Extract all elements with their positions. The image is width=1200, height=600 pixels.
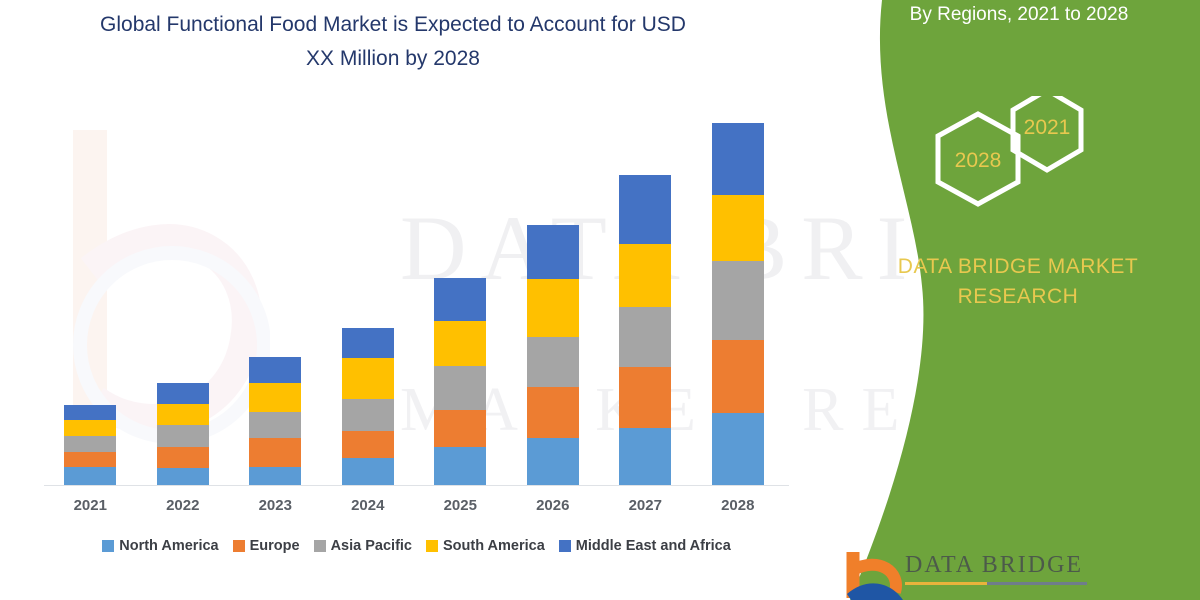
stacked-bar-chart: [44, 110, 784, 486]
legend-swatch-icon: [314, 540, 326, 552]
bar-segment[interactable]: [527, 387, 579, 438]
page-title: Global Functional Food Market is Expecte…: [48, 8, 738, 76]
logo-b-icon: [845, 548, 905, 600]
bar-segment[interactable]: [342, 431, 394, 458]
bar-segment[interactable]: [712, 413, 764, 486]
x-axis-label-2023: 2023: [230, 497, 320, 514]
x-axis-line: [44, 485, 789, 486]
legend-label: South America: [443, 538, 545, 554]
bar-segment[interactable]: [434, 278, 486, 321]
bar-segment[interactable]: [249, 383, 301, 412]
bar-group-2028[interactable]: [712, 123, 764, 486]
bar-segment[interactable]: [527, 438, 579, 486]
bar-group-2026[interactable]: [527, 225, 579, 486]
bar-segment[interactable]: [64, 452, 116, 468]
bar-segment[interactable]: [157, 468, 209, 486]
bar-segment[interactable]: [157, 383, 209, 404]
infographic-canvas: DATA BRIDGE MARKET RESEARCH Global Funct…: [0, 0, 1200, 600]
bar-segment[interactable]: [527, 337, 579, 387]
bar-segment[interactable]: [342, 399, 394, 430]
legend-item[interactable]: Europe: [233, 538, 300, 554]
bar-segment[interactable]: [619, 175, 671, 244]
bar-segment[interactable]: [527, 279, 579, 336]
bar-segment[interactable]: [157, 404, 209, 426]
logo-text: DATA BRIDGE: [905, 552, 1083, 579]
bar-group-2023[interactable]: [249, 357, 301, 486]
bar-segment[interactable]: [64, 420, 116, 436]
legend-label: Asia Pacific: [331, 538, 412, 554]
x-axis-label-2026: 2026: [508, 497, 598, 514]
bar-segment[interactable]: [619, 244, 671, 308]
legend-label: Middle East and Africa: [576, 538, 731, 554]
legend-item[interactable]: North America: [102, 538, 218, 554]
brand-line1: DATA BRIDGE MARKET: [838, 252, 1198, 282]
logo-underline: [905, 582, 1087, 585]
bar-segment[interactable]: [712, 123, 764, 195]
page-title-line1: Global Functional Food Market is Expecte…: [48, 8, 738, 42]
brand-line2: RESEARCH: [838, 282, 1198, 312]
x-axis-label-2021: 2021: [45, 497, 135, 514]
bar-segment[interactable]: [64, 405, 116, 421]
legend-swatch-icon: [233, 540, 245, 552]
bar-segment[interactable]: [342, 358, 394, 400]
x-axis-label-2027: 2027: [600, 497, 690, 514]
right-green-panel: By Regions, 2021 to 2028 2028 2021 DATA …: [810, 0, 1200, 600]
hexagon-label-2028: 2028: [928, 149, 1028, 173]
bar-segment[interactable]: [434, 447, 486, 486]
hexagon-badges: 2028 2021: [850, 96, 1180, 236]
legend-label: Europe: [250, 538, 300, 554]
bar-segment[interactable]: [434, 366, 486, 410]
bar-segment[interactable]: [249, 412, 301, 438]
bar-segment[interactable]: [434, 321, 486, 366]
legend-item[interactable]: South America: [426, 538, 545, 554]
bar-segment[interactable]: [619, 367, 671, 428]
bar-segment[interactable]: [712, 261, 764, 339]
bar-segment[interactable]: [527, 225, 579, 279]
bar-segment[interactable]: [712, 340, 764, 413]
bar-segment[interactable]: [434, 410, 486, 448]
bar-group-2022[interactable]: [157, 383, 209, 486]
panel-heading: By Regions, 2021 to 2028: [810, 2, 1200, 28]
bar-segment[interactable]: [342, 328, 394, 357]
bar-segment[interactable]: [619, 307, 671, 367]
bar-segment[interactable]: [249, 357, 301, 383]
chart-legend: North AmericaEuropeAsia PacificSouth Ame…: [44, 538, 789, 554]
page-title-line2: XX Million by 2028: [48, 42, 738, 76]
brand-name: DATA BRIDGE MARKET RESEARCH: [838, 252, 1198, 312]
bar-segment[interactable]: [157, 447, 209, 468]
bar-group-2024[interactable]: [342, 328, 394, 486]
bar-segment[interactable]: [712, 195, 764, 262]
bar-segment[interactable]: [249, 467, 301, 486]
bar-segment[interactable]: [64, 467, 116, 486]
bar-group-2027[interactable]: [619, 175, 671, 486]
legend-swatch-icon: [102, 540, 114, 552]
bar-segment[interactable]: [64, 436, 116, 452]
legend-swatch-icon: [426, 540, 438, 552]
bar-group-2025[interactable]: [434, 278, 486, 486]
hexagon-label-2021: 2021: [997, 116, 1097, 140]
bar-group-2021[interactable]: [64, 405, 116, 486]
x-axis-label-2025: 2025: [415, 497, 505, 514]
x-axis-label-2022: 2022: [138, 497, 228, 514]
legend-item[interactable]: Middle East and Africa: [559, 538, 731, 554]
legend-swatch-icon: [559, 540, 571, 552]
legend-item[interactable]: Asia Pacific: [314, 538, 412, 554]
data-bridge-logo: DATA BRIDGE: [845, 548, 1145, 600]
bar-segment[interactable]: [249, 438, 301, 467]
x-axis-label-2028: 2028: [693, 497, 783, 514]
x-axis-labels: 20212022202320242025202620272028: [44, 497, 789, 523]
legend-label: North America: [119, 538, 218, 554]
bar-segment[interactable]: [342, 458, 394, 486]
x-axis-label-2024: 2024: [323, 497, 413, 514]
bar-segment[interactable]: [157, 425, 209, 447]
bar-segment[interactable]: [619, 428, 671, 486]
